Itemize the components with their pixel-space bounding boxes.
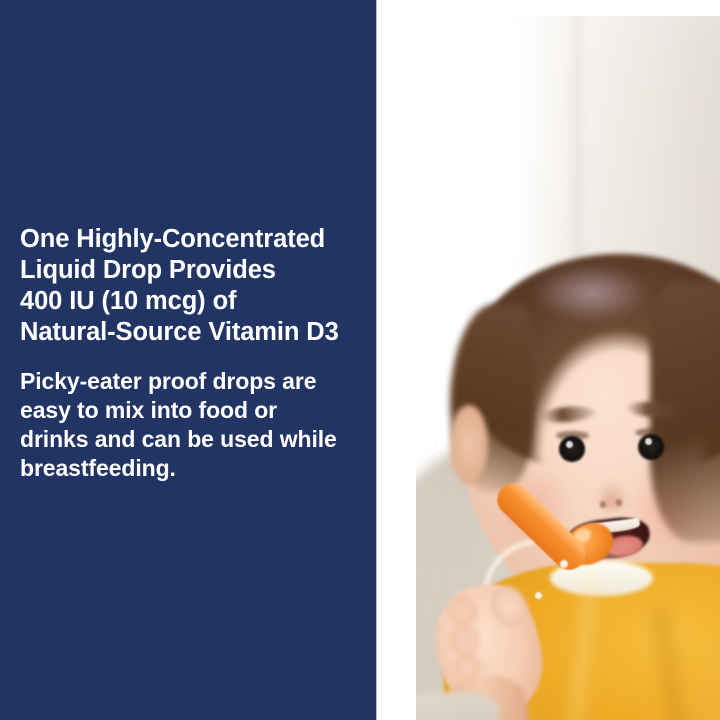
baby-nostril-right bbox=[616, 499, 622, 505]
baby-eye-glint-right bbox=[645, 438, 652, 445]
baby-eating-photo bbox=[416, 16, 720, 720]
baby-hair-highlight bbox=[533, 264, 650, 322]
panel-divider bbox=[376, 0, 377, 720]
copy-panel: One Highly-Concentrated Liquid Drop Prov… bbox=[0, 0, 376, 720]
baby-finger bbox=[447, 596, 478, 628]
baby-eye-glint-left bbox=[566, 441, 573, 448]
baby-ear-left bbox=[450, 405, 488, 484]
subcopy: Picky-eater proof drops are easy to mix … bbox=[20, 348, 362, 483]
headline: One Highly-Concentrated Liquid Drop Prov… bbox=[20, 224, 362, 348]
baby-sleeve bbox=[416, 693, 499, 720]
baby-finger bbox=[449, 624, 480, 656]
spoon-dot bbox=[535, 592, 542, 599]
baby-nostril-left bbox=[600, 501, 606, 507]
baby-eye-right bbox=[638, 434, 664, 460]
product-feature-canvas: One Highly-Concentrated Liquid Drop Prov… bbox=[0, 0, 720, 720]
copy-block: One Highly-Concentrated Liquid Drop Prov… bbox=[20, 224, 362, 483]
